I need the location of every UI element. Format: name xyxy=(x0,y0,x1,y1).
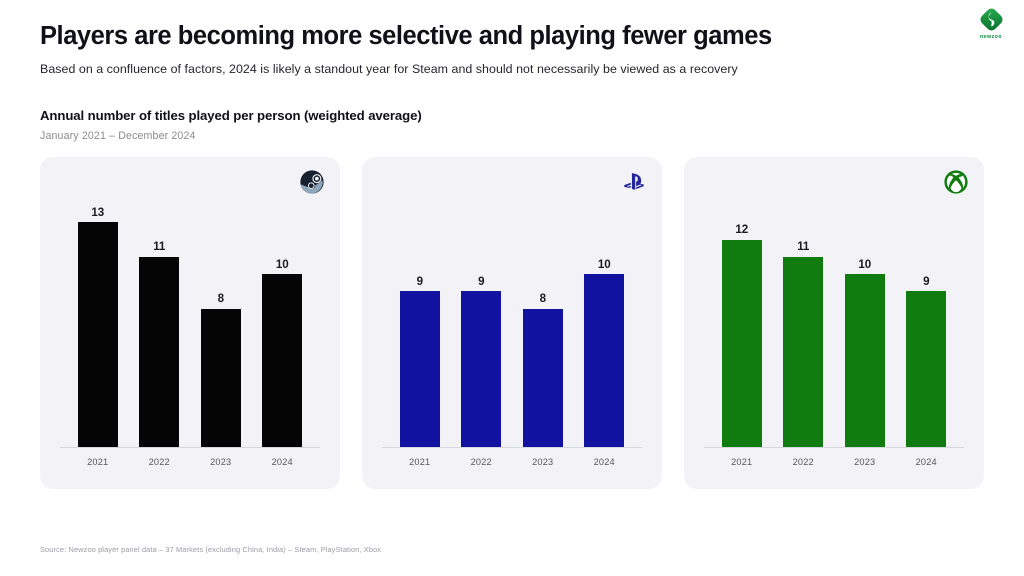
source-note: Source: Newzoo player panel data – 37 Ma… xyxy=(40,545,381,554)
chart-panel-playstation: 9 9 8 10 2021 2022 2023 xyxy=(362,157,662,489)
page-title: Players are becoming more selective and … xyxy=(40,22,920,51)
x-tick-label: 2024 xyxy=(261,457,303,467)
x-tick-label: 2021 xyxy=(721,457,763,467)
x-tick-label: 2022 xyxy=(460,457,502,467)
bar-value-label: 9 xyxy=(417,276,423,288)
page-subtitle: Based on a confluence of factors, 2024 i… xyxy=(40,62,920,76)
chart-panel-xbox: 12 11 10 9 2021 2022 20 xyxy=(684,157,984,489)
x-tick-label: 2022 xyxy=(138,457,180,467)
plot-area-steam: 13 11 8 10 xyxy=(67,205,313,447)
plot-area-xbox: 12 11 10 9 xyxy=(711,205,957,447)
plot-area-playstation: 9 9 8 10 xyxy=(389,205,635,447)
bar-value-label: 8 xyxy=(540,293,546,305)
bar-value-label: 8 xyxy=(218,293,224,305)
steam-icon xyxy=(300,170,324,194)
bar-column: 13 xyxy=(77,205,119,447)
x-tick-label: 2023 xyxy=(522,457,564,467)
bar-rect xyxy=(722,240,762,447)
x-tick-label: 2021 xyxy=(77,457,119,467)
bar-rect xyxy=(262,274,302,447)
bar-value-label: 13 xyxy=(91,207,104,219)
bar-column: 9 xyxy=(460,205,502,447)
bar-rect xyxy=(461,291,501,447)
x-tick-label: 2021 xyxy=(399,457,441,467)
bar-value-label: 12 xyxy=(735,224,748,236)
chart-period-label: January 2021 – December 2024 xyxy=(40,130,740,142)
bar-rect xyxy=(400,291,440,447)
bar-value-label: 11 xyxy=(153,241,165,253)
bar-column: 8 xyxy=(522,205,564,447)
bars-steam: 13 11 8 10 xyxy=(67,205,313,447)
bar-column: 9 xyxy=(905,205,947,447)
chart-panel-steam: 13 11 8 10 2021 2022 20 xyxy=(40,157,340,489)
bars-xbox: 12 11 10 9 xyxy=(711,205,957,447)
bar-column: 10 xyxy=(844,205,886,447)
bar-column: 9 xyxy=(399,205,441,447)
bar-rect xyxy=(584,274,624,447)
bars-playstation: 9 9 8 10 xyxy=(389,205,635,447)
bar-rect xyxy=(845,274,885,447)
x-axis-line xyxy=(60,447,320,448)
bar-value-label: 10 xyxy=(858,259,871,271)
x-axis-line xyxy=(704,447,964,448)
bar-column: 10 xyxy=(583,205,625,447)
newzoo-logo: newzoo xyxy=(970,6,1012,46)
chart-title: Annual number of titles played per perso… xyxy=(40,108,740,123)
bar-value-label: 10 xyxy=(598,259,611,271)
bar-column: 12 xyxy=(721,205,763,447)
bar-rect xyxy=(783,257,823,447)
bar-rect xyxy=(906,291,946,447)
bar-value-label: 11 xyxy=(797,241,809,253)
chart-panels: 13 11 8 10 2021 2022 20 xyxy=(40,157,984,489)
bar-rect xyxy=(523,309,563,447)
bar-column: 11 xyxy=(138,205,180,447)
bar-rect xyxy=(78,222,118,447)
newzoo-wordmark: newzoo xyxy=(980,34,1002,40)
bar-column: 10 xyxy=(261,205,303,447)
chart-title-block: Annual number of titles played per perso… xyxy=(40,108,740,142)
playstation-icon xyxy=(622,170,646,194)
bar-column: 11 xyxy=(782,205,824,447)
x-tick-label: 2024 xyxy=(905,457,947,467)
bar-value-label: 10 xyxy=(276,259,289,271)
newzoo-diamond-icon xyxy=(978,6,1005,33)
x-axis-line xyxy=(382,447,642,448)
x-axis-ticks: 2021 2022 2023 2024 xyxy=(711,457,957,467)
x-tick-label: 2024 xyxy=(583,457,625,467)
xbox-icon xyxy=(944,170,968,194)
bar-value-label: 9 xyxy=(923,276,929,288)
x-axis-ticks: 2021 2022 2023 2024 xyxy=(389,457,635,467)
x-axis-ticks: 2021 2022 2023 2024 xyxy=(67,457,313,467)
x-tick-label: 2023 xyxy=(844,457,886,467)
x-tick-label: 2023 xyxy=(200,457,242,467)
bar-column: 8 xyxy=(200,205,242,447)
slide-header: Players are becoming more selective and … xyxy=(40,22,920,76)
x-tick-label: 2022 xyxy=(782,457,824,467)
bar-rect xyxy=(201,309,241,447)
bar-value-label: 9 xyxy=(478,276,484,288)
bar-rect xyxy=(139,257,179,447)
